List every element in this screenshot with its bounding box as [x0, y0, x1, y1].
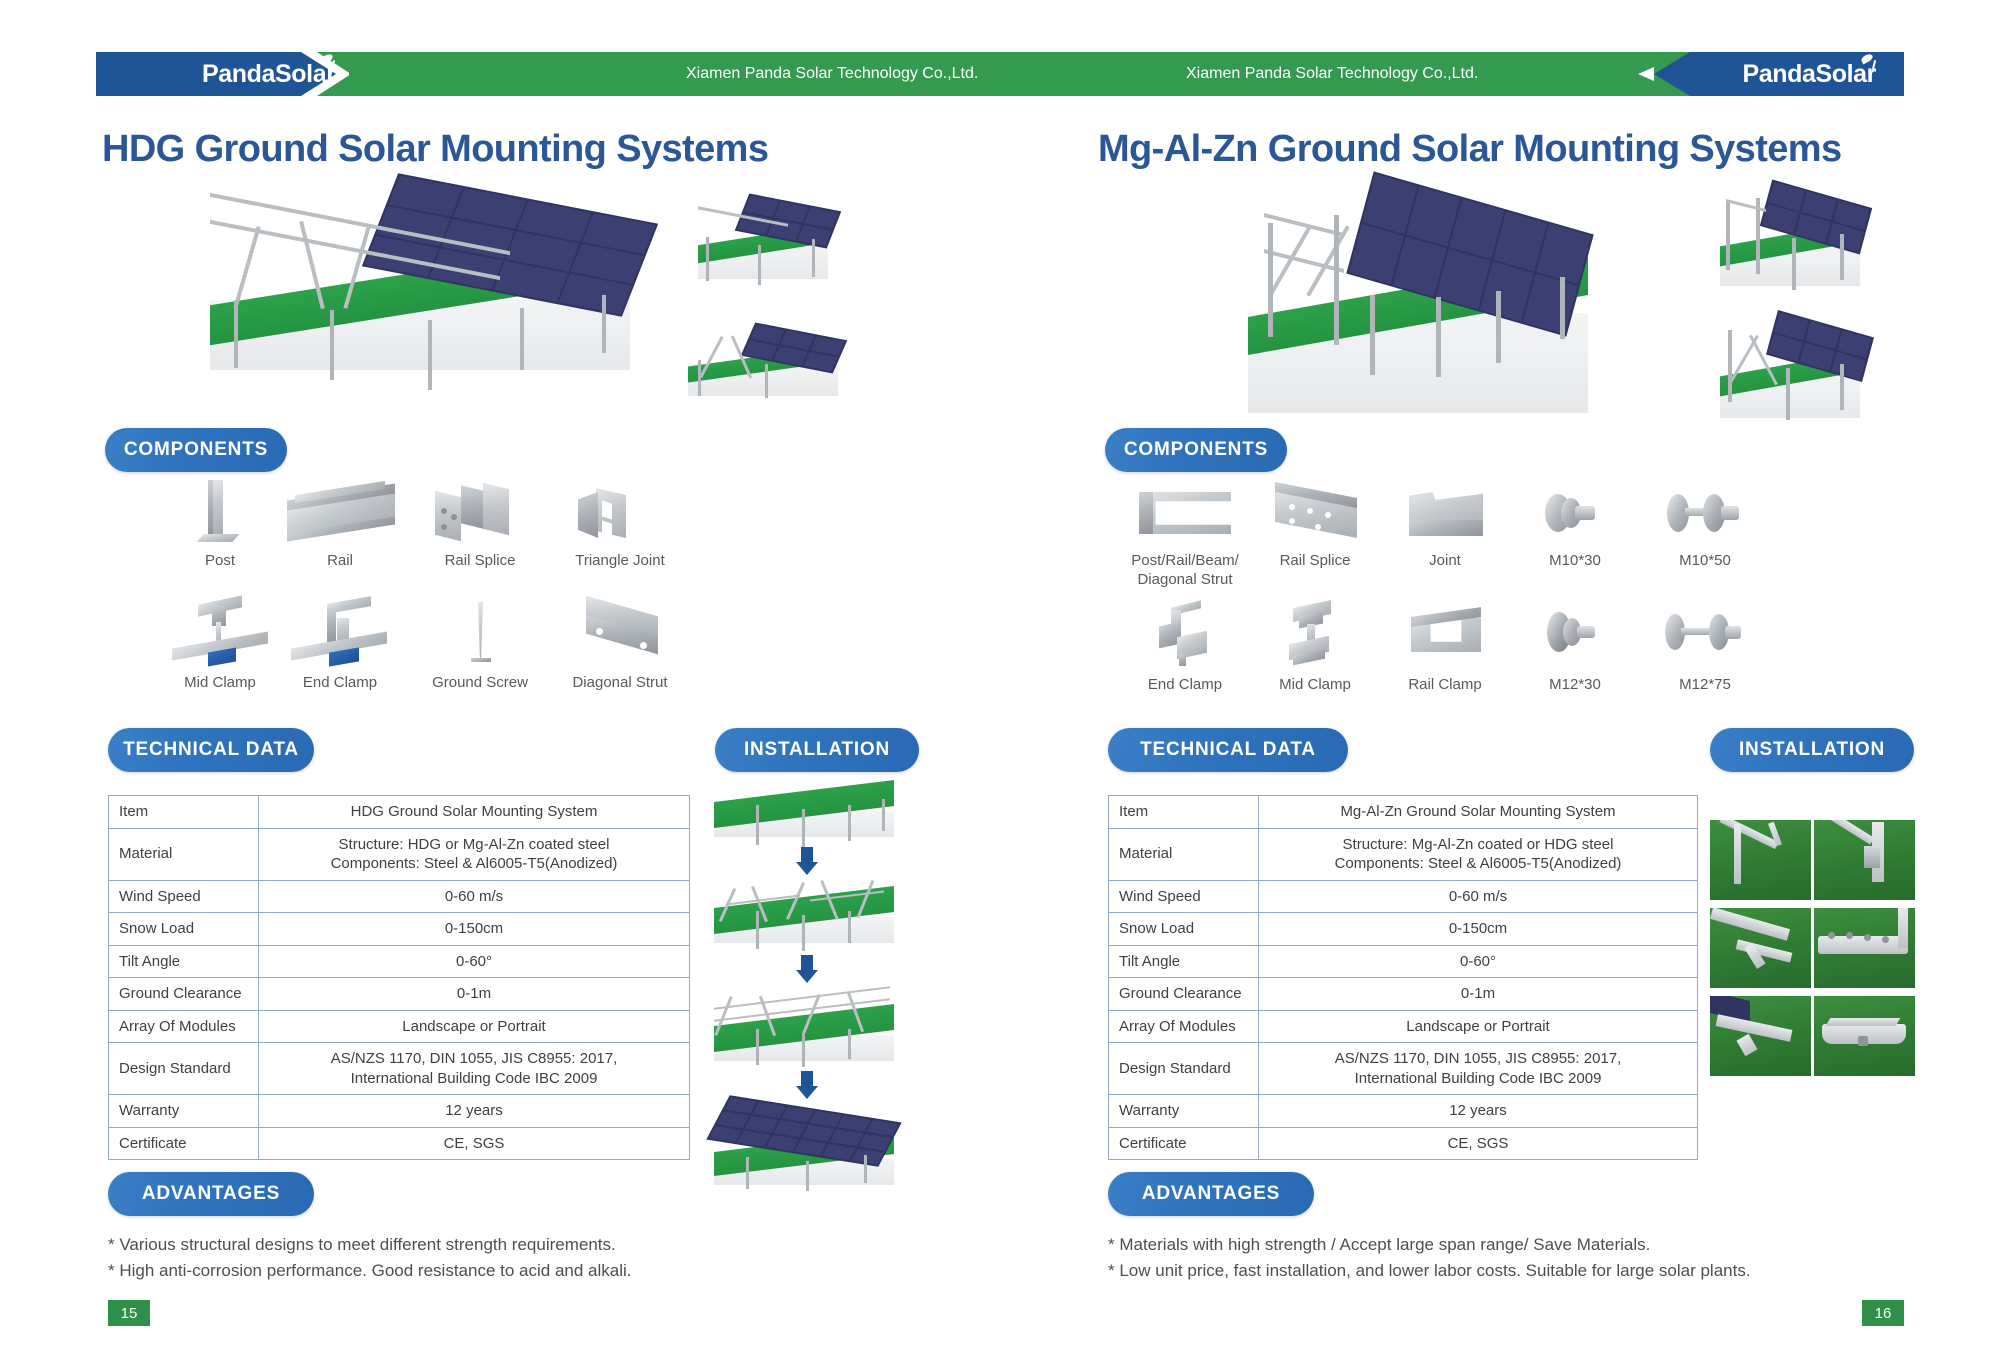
- logo-solar-text: Solar: [275, 60, 336, 88]
- installation-photo-5: [1710, 996, 1811, 1076]
- row-value: 0-1m: [1259, 978, 1698, 1011]
- diagonal-strut-icon: [540, 600, 700, 670]
- hero-post-5: [602, 295, 606, 353]
- row-value: 0-150cm: [1259, 913, 1698, 946]
- table-row: CertificateCE, SGS: [1109, 1127, 1698, 1160]
- component-label: M10*30: [1505, 552, 1645, 571]
- component-m12-75[interactable]: M12*75: [1635, 602, 1775, 695]
- row-value: 0-60°: [1259, 945, 1698, 978]
- thumb-post-4: [1840, 234, 1844, 280]
- rail-splice-icon: [405, 480, 555, 548]
- row-value: 0-60 m/s: [259, 880, 690, 913]
- hero-post-2: [1334, 215, 1339, 345]
- bolt-icon: [1505, 480, 1645, 548]
- row-key: Material: [109, 828, 259, 880]
- row-value: 0-60 m/s: [1259, 880, 1698, 913]
- installation-photo-6: [1814, 996, 1915, 1076]
- hero-post-1: [1268, 223, 1273, 337]
- page-number-left: 15: [108, 1300, 150, 1326]
- component-label: Mid Clamp: [1245, 676, 1385, 695]
- badge-advantages-right[interactable]: ADVANTAGES: [1108, 1172, 1314, 1216]
- component-triangle-joint[interactable]: Triangle Joint: [540, 480, 700, 571]
- page-title-right: Mg-Al-Zn Ground Solar Mounting Systems: [1098, 128, 1842, 171]
- end-clamp-icon: [265, 600, 415, 670]
- installation-photo-1: [1710, 820, 1811, 900]
- rail-splice-icon: [1245, 480, 1385, 548]
- badge-components-left[interactable]: COMPONENTS: [105, 428, 287, 472]
- component-rail-splice[interactable]: Rail Splice: [405, 480, 555, 571]
- row-key: Tilt Angle: [109, 945, 259, 978]
- company-name-left: Xiamen Panda Solar Technology Co.,Ltd.: [686, 52, 978, 96]
- thumb-post-3: [1840, 364, 1844, 410]
- rail-clamp-icon: [1375, 602, 1515, 672]
- table-row: Tilt Angle0-60°: [109, 945, 690, 978]
- component-end-clamp[interactable]: End Clamp: [265, 600, 415, 693]
- table-row: ItemMg-Al-Zn Ground Solar Mounting Syste…: [1109, 796, 1698, 829]
- table-row: Wind Speed0-60 m/s: [1109, 880, 1698, 913]
- hero-post-4: [1436, 297, 1441, 377]
- row-key: Snow Load: [1109, 913, 1259, 946]
- bolt-icon: [1635, 602, 1775, 672]
- component-label: Rail Clamp: [1375, 676, 1515, 695]
- arrow-down-icon-3: [796, 1071, 818, 1099]
- header-banner: PandaSolar PandaSolar Xiamen Panda Solar…: [96, 52, 1904, 96]
- page-title-left: HDG Ground Solar Mounting Systems: [102, 128, 768, 171]
- thumb-post-3: [812, 239, 815, 277]
- banner-green-bg: [96, 52, 1904, 96]
- table-row: Ground Clearance0-1m: [1109, 978, 1698, 1011]
- row-key: Tilt Angle: [1109, 945, 1259, 978]
- thumb-post-3: [1792, 238, 1796, 290]
- row-key: Warranty: [109, 1095, 259, 1128]
- table-row: MaterialStructure: HDG or Mg-Al-Zn coate…: [109, 828, 690, 880]
- table-row: CertificateCE, SGS: [109, 1127, 690, 1160]
- thumb-post-1: [706, 237, 709, 281]
- installation-photos-right: [1710, 820, 1916, 1080]
- bolt-icon: [1635, 480, 1775, 548]
- page-number-right: 16: [1862, 1300, 1904, 1326]
- row-key: Snow Load: [109, 913, 259, 946]
- component-diagonal-strut[interactable]: Diagonal Strut: [540, 600, 700, 693]
- component-label: M12*75: [1635, 676, 1775, 695]
- badge-advantages-left[interactable]: ADVANTAGES: [108, 1172, 314, 1216]
- badge-components-right[interactable]: COMPONENTS: [1105, 428, 1287, 472]
- component-rail-splice[interactable]: Rail Splice: [1245, 480, 1385, 571]
- hero-illustration-left: [190, 190, 710, 390]
- logo-right[interactable]: PandaSolar: [1742, 52, 1876, 96]
- component-label: End Clamp: [1115, 676, 1255, 695]
- row-key: Design Standard: [109, 1043, 259, 1095]
- thumb-post-1: [1728, 330, 1732, 402]
- advantage-item-2-left: * High anti-corrosion performance. Good …: [108, 1258, 632, 1284]
- table-row: ItemHDG Ground Solar Mounting System: [109, 796, 690, 829]
- logo-panda-text: Panda: [202, 60, 275, 89]
- table-row: MaterialStructure: Mg-Al-Zn coated or HD…: [1109, 828, 1698, 880]
- row-key: Ground Clearance: [109, 978, 259, 1011]
- table-row: Ground Clearance0-1m: [109, 978, 690, 1011]
- installation-steps-left: [700, 785, 920, 1195]
- installation-photo-2: [1814, 820, 1915, 900]
- thumb-beam: [1726, 199, 1766, 212]
- row-value: Structure: HDG or Mg-Al-Zn coated steel …: [259, 828, 690, 880]
- installation-photo-3: [1710, 908, 1811, 988]
- technical-data-table-right: ItemMg-Al-Zn Ground Solar Mounting Syste…: [1108, 795, 1698, 1160]
- table-row: Snow Load0-150cm: [1109, 913, 1698, 946]
- row-value: Mg-Al-Zn Ground Solar Mounting System: [1259, 796, 1698, 829]
- thumb-post-1: [698, 360, 701, 396]
- install-step-3: [706, 987, 906, 1065]
- component-end-clamp[interactable]: End Clamp: [1115, 602, 1255, 695]
- badge-technical-data-left[interactable]: TECHNICAL DATA: [108, 728, 314, 772]
- component-rail[interactable]: Rail: [265, 480, 415, 571]
- table-row: Array Of ModulesLandscape or Portrait: [1109, 1010, 1698, 1043]
- badge-installation-left[interactable]: INSTALLATION: [715, 728, 919, 772]
- hero-post-1: [234, 300, 238, 368]
- row-value: 0-150cm: [259, 913, 690, 946]
- beam-icon: [1115, 480, 1255, 548]
- component-rail-clamp[interactable]: Rail Clamp: [1375, 602, 1515, 695]
- row-key: Item: [109, 796, 259, 829]
- row-value: Landscape or Portrait: [259, 1010, 690, 1043]
- component-ground-screw[interactable]: Ground Screw: [405, 600, 555, 693]
- row-key: Wind Speed: [1109, 880, 1259, 913]
- component-beam[interactable]: Post/Rail/Beam/ Diagonal Strut: [1115, 480, 1255, 590]
- component-mid-clamp[interactable]: Mid Clamp: [1245, 602, 1385, 695]
- hero-post-5: [1496, 291, 1501, 363]
- badge-technical-data-right[interactable]: TECHNICAL DATA: [1108, 728, 1348, 772]
- hero-thumb-left-1: [680, 195, 860, 285]
- hero-thumb-left-2: [670, 320, 860, 410]
- hero-thumb-right-2: [1700, 318, 1900, 428]
- logo-left[interactable]: PandaSolar: [202, 52, 336, 96]
- table-body: ItemHDG Ground Solar Mounting System Mat…: [109, 796, 690, 1160]
- row-key: Array Of Modules: [1109, 1010, 1259, 1043]
- component-label: Joint: [1375, 552, 1515, 571]
- table-row: Design StandardAS/NZS 1170, DIN 1055, JI…: [1109, 1043, 1698, 1095]
- component-label: M12*30: [1505, 676, 1645, 695]
- hero-post-3: [1370, 295, 1375, 375]
- table-row: Warranty12 years: [109, 1095, 690, 1128]
- hero-post-6: [1560, 277, 1565, 339]
- component-label: M10*50: [1635, 552, 1775, 571]
- advantage-item-1-right: * Materials with high strength / Accept …: [1108, 1232, 1650, 1258]
- table-row: Snow Load0-150cm: [109, 913, 690, 946]
- hero-diagonal-1: [233, 226, 260, 309]
- table-row: Design StandardAS/NZS 1170, DIN 1055, JI…: [109, 1043, 690, 1095]
- row-key: Certificate: [109, 1127, 259, 1160]
- thumb-post-2: [765, 364, 768, 398]
- thumb-post-2: [758, 245, 761, 285]
- component-label: Triangle Joint: [540, 552, 700, 571]
- hero-post-3: [428, 320, 432, 390]
- row-key: Ground Clearance: [1109, 978, 1259, 1011]
- hero-thumb-right-1: [1700, 190, 1900, 300]
- hero-post-4: [520, 308, 524, 370]
- component-m10-50[interactable]: M10*50: [1635, 480, 1775, 571]
- component-joint[interactable]: Joint: [1375, 480, 1515, 571]
- rail-icon: [265, 480, 415, 548]
- row-value: HDG Ground Solar Mounting System: [259, 796, 690, 829]
- table-row: Tilt Angle0-60°: [1109, 945, 1698, 978]
- row-value: 0-1m: [259, 978, 690, 1011]
- table-row: Wind Speed0-60 m/s: [109, 880, 690, 913]
- row-value: 0-60°: [259, 945, 690, 978]
- component-label: End Clamp: [265, 674, 415, 693]
- hero-post-2: [330, 310, 334, 380]
- logo-panda-text: Panda: [1742, 60, 1815, 89]
- row-value: Landscape or Portrait: [1259, 1010, 1698, 1043]
- table-row: Warranty12 years: [1109, 1095, 1698, 1128]
- hero-illustration-right: [1240, 195, 1660, 415]
- mid-clamp-icon: [1245, 602, 1385, 672]
- joint-icon: [1375, 480, 1515, 548]
- row-key: Design Standard: [1109, 1043, 1259, 1095]
- ground-screw-icon: [405, 600, 555, 670]
- triangle-joint-icon: [540, 480, 700, 548]
- row-value: 12 years: [259, 1095, 690, 1128]
- component-label: Rail Splice: [405, 552, 555, 571]
- technical-data-table-left: ItemHDG Ground Solar Mounting System Mat…: [108, 795, 690, 1160]
- component-label: Rail Splice: [1245, 552, 1385, 571]
- row-value: AS/NZS 1170, DIN 1055, JIS C8955: 2017, …: [1259, 1043, 1698, 1095]
- arrow-down-icon-2: [796, 955, 818, 983]
- row-value: 12 years: [1259, 1095, 1698, 1128]
- row-key: Item: [1109, 796, 1259, 829]
- install-step-2: [706, 877, 906, 949]
- badge-installation-right[interactable]: INSTALLATION: [1710, 728, 1914, 772]
- thumb-post-2: [1786, 368, 1790, 420]
- component-label: Post/Rail/Beam/ Diagonal Strut: [1115, 552, 1255, 590]
- catalog-spread: PandaSolar PandaSolar Xiamen Panda Solar…: [0, 0, 2000, 1366]
- install-step-4: [706, 1103, 906, 1189]
- bolt-icon: [1505, 602, 1645, 672]
- row-value: AS/NZS 1170, DIN 1055, JIS C8955: 2017, …: [259, 1043, 690, 1095]
- row-value: CE, SGS: [1259, 1127, 1698, 1160]
- row-value: Structure: Mg-Al-Zn coated or HDG steel …: [1259, 828, 1698, 880]
- row-key: Material: [1109, 828, 1259, 880]
- logo-solar-text: Solar: [1815, 60, 1876, 88]
- end-clamp-icon: [1115, 602, 1255, 672]
- row-key: Warranty: [1109, 1095, 1259, 1128]
- component-label: Ground Screw: [405, 674, 555, 693]
- table-row: Array Of ModulesLandscape or Portrait: [109, 1010, 690, 1043]
- component-label: Diagonal Strut: [540, 674, 700, 693]
- row-value: CE, SGS: [259, 1127, 690, 1160]
- table-body: ItemMg-Al-Zn Ground Solar Mounting Syste…: [1109, 796, 1698, 1160]
- component-m10-30[interactable]: M10*30: [1505, 480, 1645, 571]
- row-key: Wind Speed: [109, 880, 259, 913]
- component-m12-30[interactable]: M12*30: [1505, 602, 1645, 695]
- row-key: Array Of Modules: [109, 1010, 259, 1043]
- row-key: Certificate: [1109, 1127, 1259, 1160]
- installation-photo-4: [1814, 908, 1915, 988]
- arrow-down-icon-1: [796, 847, 818, 875]
- advantage-item-1-left: * Various structural designs to meet dif…: [108, 1232, 616, 1258]
- component-label: Rail: [265, 552, 415, 571]
- company-name-right: Xiamen Panda Solar Technology Co.,Ltd.: [1186, 52, 1478, 96]
- install-step-1: [706, 785, 906, 847]
- advantage-item-2-right: * Low unit price, fast installation, and…: [1108, 1258, 1751, 1284]
- thumb-post-1: [1726, 200, 1730, 270]
